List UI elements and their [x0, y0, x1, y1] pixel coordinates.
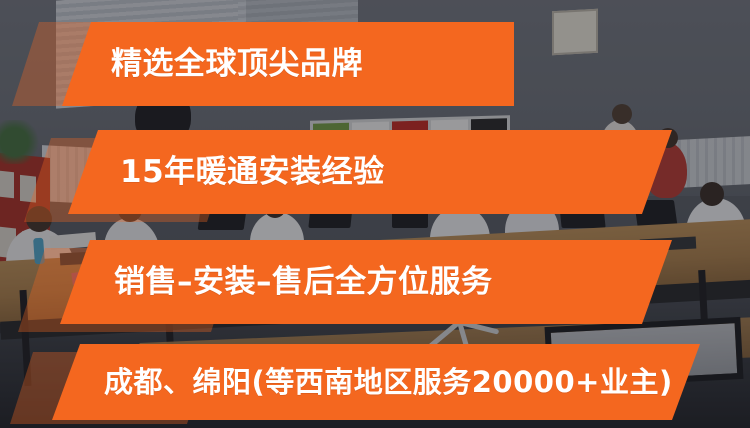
- banner-2-text: 15年暖通安装经验: [120, 157, 385, 188]
- person-head: [700, 182, 724, 206]
- banner-4-text: 成都、绵阳(等西南地区服务20000+业主): [104, 368, 673, 397]
- banner-1[interactable]: 精选全球顶尖品牌: [62, 22, 514, 106]
- desk-leg: [698, 270, 709, 340]
- banner-4[interactable]: 成都、绵阳(等西南地区服务20000+业主): [52, 344, 700, 420]
- banner-1-text: 精选全球顶尖品牌: [111, 49, 363, 80]
- person-seated: [686, 198, 746, 266]
- promo-banner-stage: 精选全球顶尖品牌 15年暖通安装经验 销售–安装–售后全方位服务 成都、绵阳(等…: [0, 0, 750, 428]
- banner-3-text: 销售–安装–售后全方位服务: [114, 267, 493, 298]
- person-head: [612, 104, 632, 124]
- plant-icon: [0, 120, 42, 164]
- banner-2[interactable]: 15年暖通安装经验: [68, 130, 672, 214]
- banner-3[interactable]: 销售–安装–售后全方位服务: [60, 240, 672, 324]
- wall-frame: [552, 9, 598, 55]
